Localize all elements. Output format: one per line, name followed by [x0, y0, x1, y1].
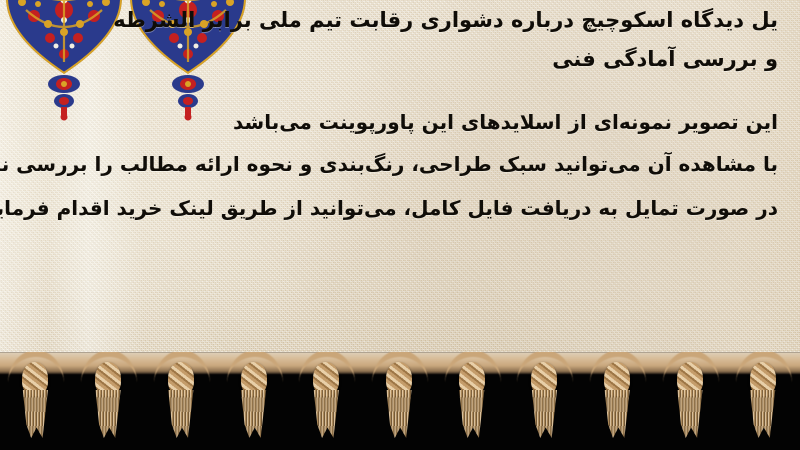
tassel-skirt [20, 390, 50, 438]
tassel [13, 360, 59, 446]
tassel-skirt [239, 390, 269, 438]
tassel-fringe [0, 352, 800, 450]
medallion-pendant-icon [38, 74, 90, 122]
tassel [304, 360, 350, 446]
tassel [159, 360, 205, 446]
slide-body-line-3: در صورت تمایل به دریافت فایل کامل، می‌تو… [0, 196, 778, 220]
tassel [522, 360, 568, 446]
tassel [377, 360, 423, 446]
tassel-skirt [675, 390, 705, 438]
slide-body-line-1: این تصویر نمونه‌ای از اسلایدهای این پاور… [233, 110, 778, 134]
canvas-background: یل دیدگاه اسکوچیچ درباره دشواری رقابت تی… [0, 0, 800, 368]
tassel [668, 360, 714, 446]
slide-title-line-1: یل دیدگاه اسکوچیچ درباره دشواری رقابت تی… [113, 8, 778, 32]
slide-title-line-2: و بررسی آمادگی فنی [552, 47, 778, 71]
slide-canvas: یل دیدگاه اسکوچیچ درباره دشواری رقابت تی… [0, 0, 800, 450]
tassel-skirt [166, 390, 196, 438]
tassel-skirt [93, 390, 123, 438]
tassel [232, 360, 278, 446]
tassel-skirt [748, 390, 778, 438]
slide-body-line-2: با مشاهده آن می‌توانید سبک طراحی، رنگ‌بن… [0, 152, 778, 176]
tassel-skirt [384, 390, 414, 438]
tassel [741, 360, 787, 446]
tassel [595, 360, 641, 446]
medallion-pendant-icon [162, 74, 214, 122]
tassel-skirt [602, 390, 632, 438]
tassel [86, 360, 132, 446]
tassel-skirt [457, 390, 487, 438]
tassel-skirt [311, 390, 341, 438]
medallion-icon [4, 0, 124, 76]
tassel-skirt [529, 390, 559, 438]
persian-medallion-left-ornament [4, 0, 124, 118]
tassel [450, 360, 496, 446]
